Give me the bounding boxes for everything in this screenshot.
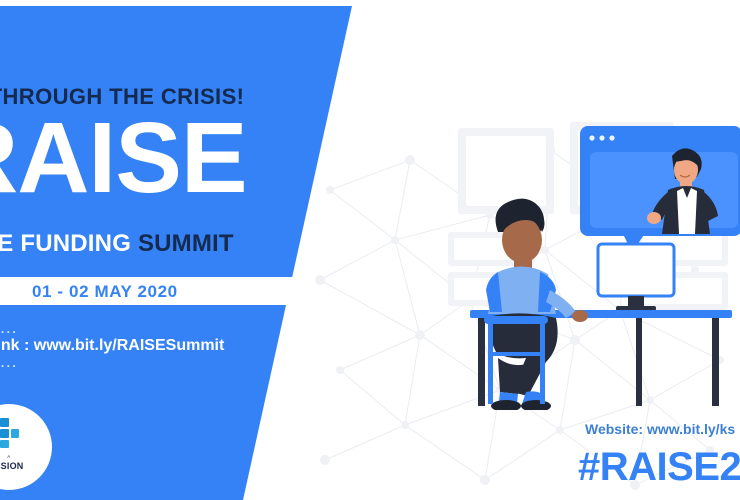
organizer-badge: A SSION: [0, 404, 52, 490]
poster-canvas: VE THROUGH THE CRISIS! RAISE LINE FUNDIN…: [0, 0, 740, 500]
dotted-divider-bottom: ..........: [0, 356, 110, 370]
video-call-window: [580, 126, 740, 252]
event-date: 01 - 02 MAY 2020: [32, 282, 178, 302]
left-content-block: VE THROUGH THE CRISIS! RAISE LINE FUNDIN…: [0, 0, 420, 500]
subtitle-primary: LINE FUNDING: [0, 230, 131, 257]
event-wordmark: RAISE: [0, 108, 366, 208]
event-hashtag: #RAISE20: [578, 445, 740, 490]
startup-mission-logo-icon: [0, 416, 21, 450]
badge-name-text: SSION: [0, 461, 52, 471]
subtitle-secondary: SUMMIT: [138, 230, 234, 257]
website-text[interactable]: Website: www.bit.ly/ks: [585, 421, 735, 437]
top-white-strip: [0, 0, 740, 6]
registration-link-text[interactable]: ation Link : www.bit.ly/RAISESummit: [0, 337, 344, 355]
seated-person: [486, 199, 588, 410]
event-subtitle: LINE FUNDING SUMMIT: [0, 230, 358, 258]
badge-sub-text: A: [0, 454, 52, 459]
dotted-divider-top: ..........: [0, 322, 110, 336]
date-band: 01 - 02 MAY 2020: [0, 277, 310, 305]
online-video-call-illustration: [440, 120, 740, 410]
